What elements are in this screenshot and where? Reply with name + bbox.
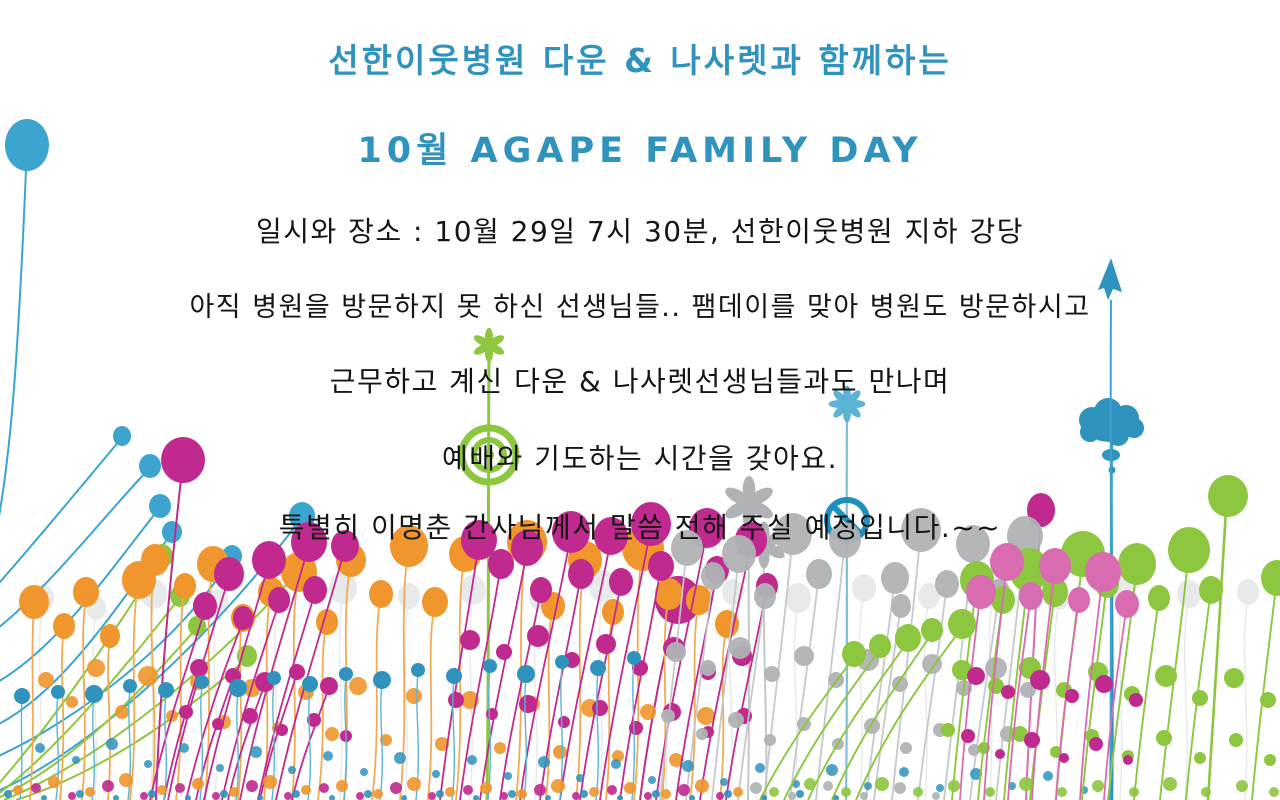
poster-body-line-1: 일시와 장소 : 10월 29일 7시 30분, 선한이웃병원 지하 강당: [0, 210, 1280, 250]
poster-body-line-3: 근무하고 계신 다운 & 나사렛선생님들과도 만나며: [0, 360, 1280, 400]
poster-body-line-5: 특별히 이명춘 간사님께서 말씀 전해 주실 예정입니다.~~: [0, 506, 1280, 546]
poster-body-line-2: 아직 병원을 방문하지 못 하신 선생님들.. 팸데이를 맞아 병원도 방문하시…: [0, 285, 1280, 324]
poster-canvas: 선한이웃병원 다운 & 나사렛과 함께하는 10월 AGAPE FAMILY D…: [0, 0, 1280, 800]
poster-body-line-4: 예배와 기도하는 시간을 갖아요.: [0, 437, 1280, 477]
poster-text-layer: 선한이웃병원 다운 & 나사렛과 함께하는 10월 AGAPE FAMILY D…: [0, 0, 1280, 800]
poster-title-line-1: 선한이웃병원 다운 & 나사렛과 함께하는: [0, 34, 1280, 82]
poster-title-line-2: 10월 AGAPE FAMILY DAY: [0, 122, 1280, 173]
